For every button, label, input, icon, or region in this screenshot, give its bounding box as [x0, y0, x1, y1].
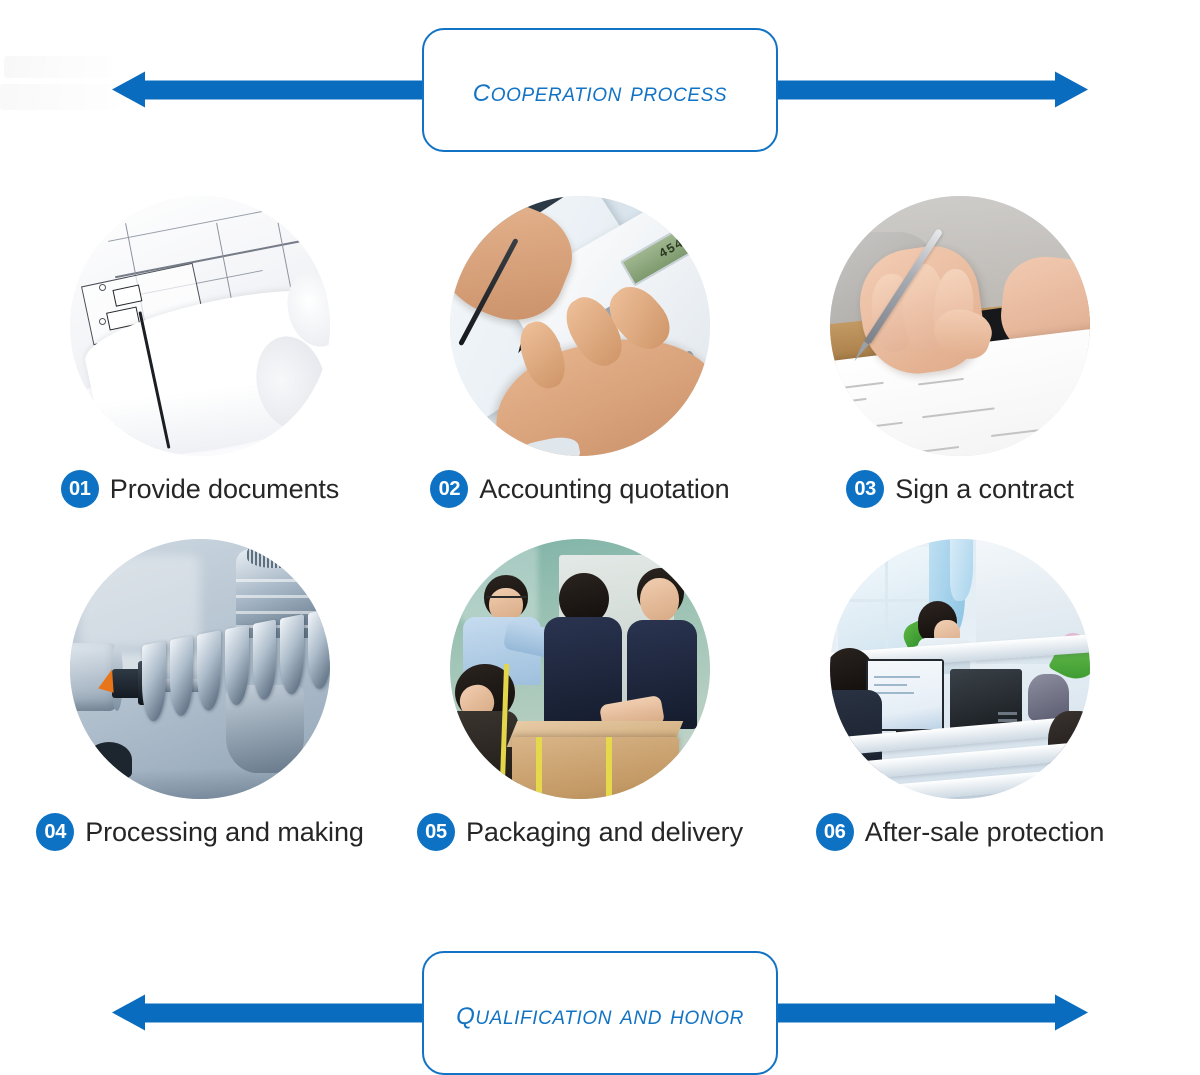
arrow-left-head — [112, 72, 145, 108]
step-03-thumb-wrap — [830, 196, 1090, 456]
step-row-1: 60 W b1 PE L1 01 Provide documents — [0, 196, 1200, 539]
qualification-and-honor-pill: Qualification and honor — [422, 951, 778, 1075]
arrow-left-bar — [144, 81, 432, 100]
step-03-badge: 03 — [846, 470, 884, 508]
arrow-right-head — [1055, 72, 1088, 108]
step-02-caption: 02 Accounting quotation — [380, 470, 780, 508]
step-06-caption: 06 After-sale protection — [760, 813, 1160, 851]
step-03[interactable]: 03 Sign a contract — [760, 196, 1160, 508]
step-01-caption: 01 Provide documents — [0, 470, 400, 508]
step-05[interactable]: 05 Packaging and delivery — [380, 539, 780, 851]
rolled-blueprints-photo: 60 W b1 PE L1 — [70, 196, 330, 456]
step-02-thumb-wrap: 4545 — [450, 196, 710, 456]
qualification-and-honor-title: Qualification and honor — [456, 994, 744, 1033]
step-06[interactable]: 06 After-sale protection — [760, 539, 1160, 851]
infographic-page: Cooperation process 60 — [0, 0, 1200, 1075]
arrow-left-bar-bottom — [144, 1004, 432, 1023]
step-06-label: After-sale protection — [865, 817, 1105, 848]
workers-packing-box-photo — [450, 539, 710, 799]
arrow-right-icon — [768, 81, 1088, 100]
step-05-label: Packaging and delivery — [466, 817, 743, 848]
arrow-right-head-bottom — [1055, 995, 1088, 1031]
step-01-badge: 01 — [61, 470, 99, 508]
step-03-caption: 03 Sign a contract — [760, 470, 1160, 508]
cooperation-process-pill: Cooperation process — [422, 28, 778, 152]
step-02[interactable]: 4545 — [380, 196, 780, 508]
arrow-right-icon-bottom — [768, 1004, 1088, 1023]
office-workers-computers-photo — [830, 539, 1090, 799]
bottom-banner: Qualification and honor — [0, 951, 1200, 1075]
step-04-badge: 04 — [36, 813, 74, 851]
cnc-machining-gear-photo — [70, 539, 330, 799]
step-01-label: Provide documents — [110, 474, 339, 505]
arrow-right-bar — [768, 81, 1056, 100]
hands-using-calculator-photo: 4545 — [450, 196, 710, 456]
cooperation-process-title: Cooperation process — [473, 71, 727, 110]
steps-grid: 60 W b1 PE L1 01 Provide documents — [0, 196, 1200, 882]
arrow-left-icon-bottom — [112, 1004, 432, 1023]
step-04[interactable]: 04 Processing and making — [0, 539, 400, 851]
arrow-left-icon — [112, 81, 432, 100]
step-02-label: Accounting quotation — [479, 474, 729, 505]
step-03-label: Sign a contract — [895, 474, 1074, 505]
step-05-thumb-wrap — [450, 539, 710, 799]
step-06-thumb-wrap — [830, 539, 1090, 799]
arrow-right-bar-bottom — [768, 1004, 1056, 1023]
step-01-thumb-wrap: 60 W b1 PE L1 — [70, 196, 330, 456]
step-01[interactable]: 60 W b1 PE L1 01 Provide documents — [0, 196, 400, 508]
step-04-caption: 04 Processing and making — [0, 813, 400, 851]
step-row-2: 04 Processing and making — [0, 539, 1200, 882]
step-04-label: Processing and making — [85, 817, 364, 848]
step-02-badge: 02 — [430, 470, 468, 508]
signing-contract-photo — [830, 196, 1090, 456]
step-06-badge: 06 — [816, 813, 854, 851]
step-04-thumb-wrap — [70, 539, 330, 799]
top-banner: Cooperation process — [0, 28, 1200, 152]
step-05-badge: 05 — [417, 813, 455, 851]
arrow-left-head-bottom — [112, 995, 145, 1031]
step-05-caption: 05 Packaging and delivery — [380, 813, 780, 851]
